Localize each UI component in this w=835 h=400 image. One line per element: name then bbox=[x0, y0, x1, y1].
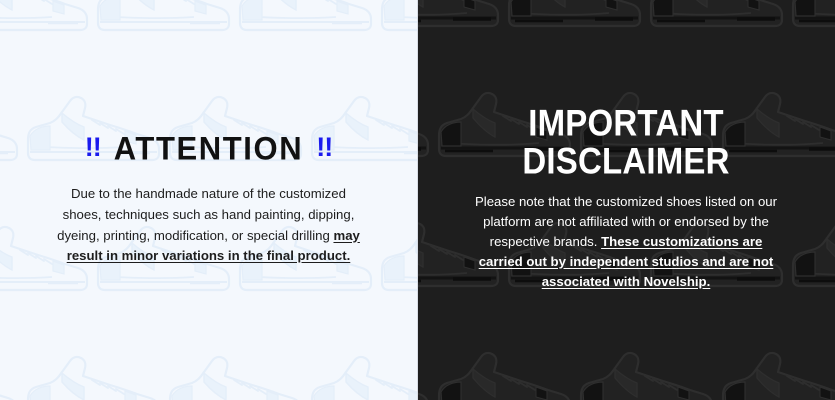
promo-banner: !! ATTENTION !! Due to the handmade natu… bbox=[0, 0, 835, 400]
attention-heading-word: ATTENTION bbox=[114, 132, 303, 165]
disclaimer-body-text: Please note that the customized shoes li… bbox=[466, 192, 786, 292]
attention-panel: !! ATTENTION !! Due to the handmade natu… bbox=[0, 0, 417, 400]
disclaimer-panel: IMPORTANT DISCLAIMER Please note that th… bbox=[417, 0, 835, 400]
exclamation-left-icon: !! bbox=[85, 134, 101, 161]
exclamation-right-icon: !! bbox=[316, 134, 332, 161]
disclaimer-heading: IMPORTANT DISCLAIMER bbox=[522, 104, 729, 179]
panel-divider bbox=[417, 0, 418, 400]
disclaimer-heading-line2: DISCLAIMER bbox=[522, 142, 729, 180]
attention-heading: !! ATTENTION !! bbox=[85, 133, 332, 164]
attention-body-text: Due to the handmade nature of the custom… bbox=[54, 184, 364, 266]
disclaimer-heading-line1: IMPORTANT bbox=[522, 104, 729, 142]
attention-body-normal: Due to the handmade nature of the custom… bbox=[57, 186, 354, 242]
